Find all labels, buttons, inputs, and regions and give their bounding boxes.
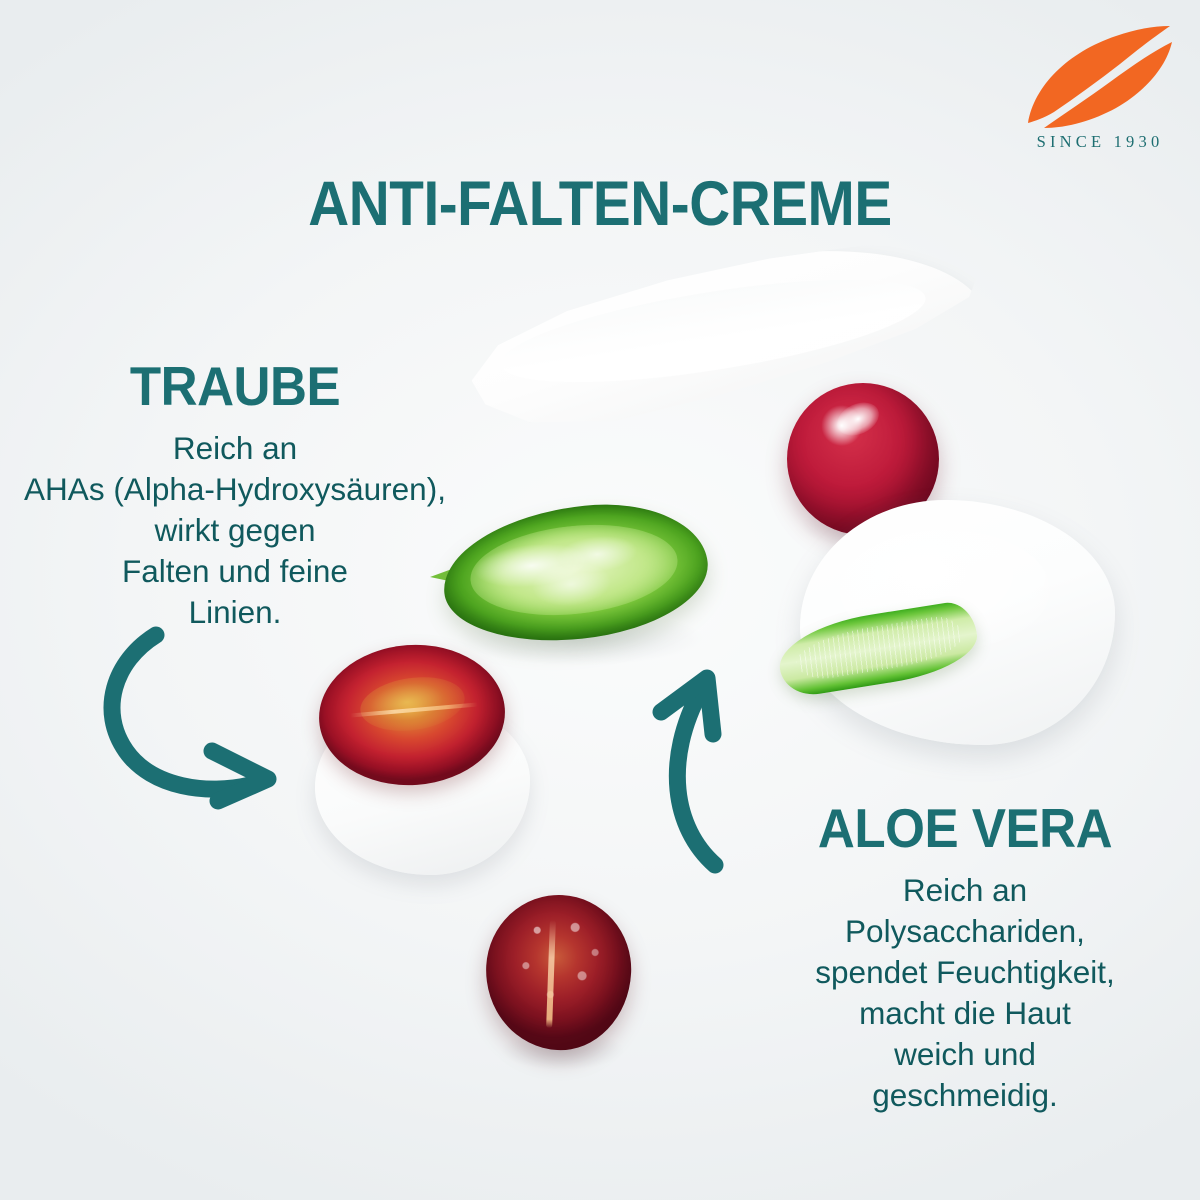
since-label: SINCE 1930 — [1016, 132, 1184, 152]
section-traube-line: wirkt gegen — [0, 510, 470, 551]
poster-canvas: SINCE 1930 ANTI-FALTEN-CREME TRAUBE Reic… — [0, 0, 1200, 1200]
section-aloe-vera-line: Reich an — [730, 870, 1200, 911]
section-traube-line: AHAs (Alpha-Hydroxysäuren), — [0, 469, 470, 510]
arrow-traube-to-grape-icon — [90, 615, 300, 815]
section-traube-line: Linien. — [0, 592, 470, 633]
section-traube-line: Reich an — [0, 428, 470, 469]
brand-logo: SINCE 1930 — [1016, 24, 1184, 164]
section-aloe-vera: ALOE VERA Reich an Polysacchariden, spen… — [730, 800, 1200, 1116]
section-aloe-vera-body: Reich an Polysacchariden, spendet Feucht… — [730, 870, 1200, 1116]
section-aloe-vera-line: spendet Feuchtigkeit, — [730, 952, 1200, 993]
section-traube-line: Falten und feine — [0, 551, 470, 592]
section-aloe-vera-title: ALOE VERA — [746, 800, 1183, 856]
section-aloe-vera-line: macht die Haut — [730, 993, 1200, 1034]
flame-swoosh-logo-icon — [1024, 24, 1176, 130]
section-aloe-vera-line: Polysacchariden, — [730, 911, 1200, 952]
section-aloe-vera-line: weich und — [730, 1034, 1200, 1075]
section-traube-title: TRAUBE — [16, 358, 453, 414]
page-title: ANTI-FALTEN-CREME — [60, 168, 1140, 240]
section-aloe-vera-line: geschmeidig. — [730, 1075, 1200, 1116]
section-traube-body: Reich an AHAs (Alpha-Hydroxysäuren), wir… — [0, 428, 470, 633]
section-traube: TRAUBE Reich an AHAs (Alpha-Hydroxysäure… — [0, 358, 470, 633]
